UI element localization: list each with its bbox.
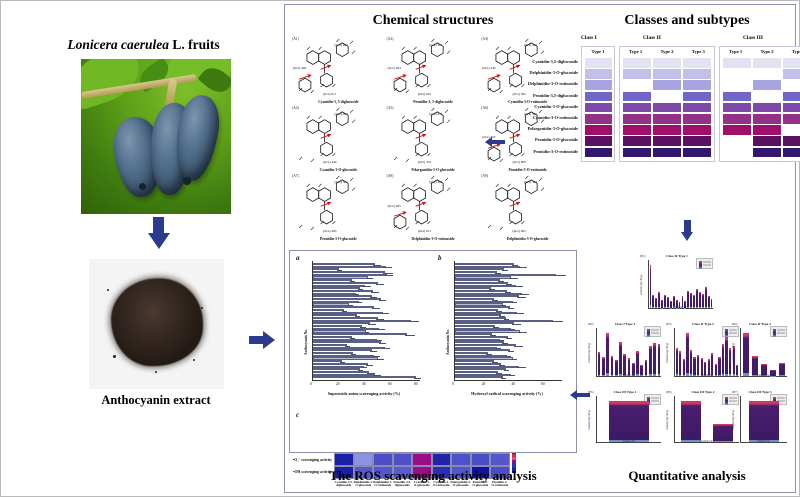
heatmap-cell bbox=[783, 92, 800, 102]
quant-chart-title: Class III Type 2 bbox=[665, 390, 741, 394]
x-axis-tick: 60 bbox=[388, 382, 392, 386]
quant-chart-6: (B6)Class III Type 2Content (mg/100 g)Sa… bbox=[665, 390, 741, 450]
heatmap-cell bbox=[653, 103, 681, 113]
heatmap-cell bbox=[723, 80, 751, 90]
type-header-2-1: Type 1 bbox=[620, 47, 651, 57]
chart-hydroxyl: 0204060 bbox=[454, 261, 562, 381]
chemical-structure-5: (A5)(m/z) 271(m/z) 433Pelargonidin-3-O-g… bbox=[386, 105, 481, 174]
quant-chart-title: Class II Type 1 bbox=[639, 254, 715, 258]
x-axis-tick: 60 bbox=[541, 382, 545, 386]
quant-plot-area: Sample No. bbox=[740, 396, 787, 443]
heatmap-cell bbox=[653, 69, 681, 79]
haskap-fruit-photo bbox=[81, 59, 231, 214]
ros-heatmap-cell bbox=[451, 453, 471, 466]
ros-analysis-panel: a b 020406080 0204060 Superoxide anion s… bbox=[289, 250, 577, 490]
type-header-3-3: Type 3 bbox=[783, 47, 800, 57]
x-axis-tick: 0 bbox=[452, 382, 454, 386]
heatmap-cell bbox=[683, 92, 711, 102]
heatmap-cell bbox=[653, 136, 681, 146]
chemical-structure-7: (A7)(m/z) 301(m/z) 463Peonidin-3-O-gluco… bbox=[291, 173, 386, 242]
class-header-1: Class I bbox=[581, 35, 597, 41]
heatmap-cell bbox=[683, 114, 711, 124]
structure-mz-frag1: (m/z) 303 bbox=[524, 180, 537, 184]
quant-plot-area: Sample No. bbox=[674, 328, 739, 377]
quant-bar bbox=[743, 333, 749, 376]
panel-letter-a: a bbox=[296, 254, 300, 262]
quant-xlabel: Sample No. bbox=[741, 374, 787, 377]
ros-heatmap-cell bbox=[373, 453, 393, 466]
class-header-3: Class III bbox=[743, 35, 763, 41]
heatmap-column bbox=[622, 58, 652, 159]
heatmap-cell bbox=[653, 125, 681, 135]
type-header-3-1: Type 1 bbox=[720, 47, 751, 57]
heatmap-cell bbox=[653, 58, 681, 68]
heatmap-row-label-7: Pelargonidin-3-O-glucoside bbox=[499, 123, 581, 134]
chemical-structure-9: (A9)(m/z) 303(m/z) 465Delphinidin-3-O-gl… bbox=[480, 173, 575, 242]
quant-bar bbox=[606, 333, 609, 376]
structure-mz-parent: (m/z) 463 bbox=[323, 229, 336, 233]
heatmap-block-class-iii: Type 1Type 2Type 3 bbox=[719, 46, 800, 162]
quant-bar bbox=[686, 333, 688, 376]
quant-bar bbox=[658, 344, 661, 376]
heatmap-cell bbox=[723, 58, 751, 68]
heatmap-row-label-1: Cyanidin-3,5-diglucoside bbox=[499, 56, 581, 67]
heatmap-cell bbox=[683, 58, 711, 68]
heatmap-cell bbox=[783, 136, 800, 146]
heatmap-cell bbox=[783, 58, 800, 68]
heatmap-cell bbox=[653, 80, 681, 90]
chart-a-xlabel: Superoxide anion scavenging activity (%) bbox=[290, 391, 438, 396]
quant-plot-area: Sample No. bbox=[674, 396, 739, 443]
chart-b-xlabel: Hydroxyl radical scavenging activity (%) bbox=[436, 391, 578, 396]
heatmap-cell bbox=[753, 69, 781, 79]
heatmap-cell bbox=[623, 136, 651, 146]
heatmap-cell bbox=[585, 148, 612, 158]
structure-mz-parent: (m/z) 625 bbox=[418, 92, 431, 96]
quant-chart-title: Class III Type 1 bbox=[587, 390, 663, 394]
quant-ylabel: Content (mg/100 g) bbox=[732, 410, 735, 430]
heatmap-cell bbox=[623, 125, 651, 135]
x-axis-tick: 80 bbox=[414, 382, 418, 386]
quant-bar bbox=[653, 343, 656, 376]
structure-mz-frag1: (m/z) 271 bbox=[429, 112, 442, 116]
heatmap-cell bbox=[753, 125, 781, 135]
quant-xlabel: Sample No. bbox=[649, 306, 713, 309]
heatmap-cell bbox=[683, 148, 711, 158]
heatmap-cell bbox=[783, 103, 800, 113]
structure-mz-parent: (m/z) 611 bbox=[418, 229, 431, 233]
arrow-classes-to-quantitative bbox=[681, 220, 693, 242]
heatmap-cell bbox=[753, 114, 781, 124]
heatmap-cell bbox=[683, 69, 711, 79]
source-material-column: Lonicera caerulea L. fruits Anthocyani bbox=[1, 1, 284, 496]
extract-label: Anthocyanin extract bbox=[31, 393, 281, 408]
structure-name: Cyanidin-3-O-glucoside bbox=[291, 168, 386, 172]
structure-name: Delphinidin-3-O-glucoside bbox=[480, 237, 575, 241]
graphical-abstract-page: Lonicera caerulea L. fruits Anthocyani bbox=[0, 0, 800, 497]
quant-bar bbox=[609, 401, 650, 442]
chemical-structure-8: (A8)(m/z) 303(m/z) 465(m/z) 611Delphinid… bbox=[386, 173, 481, 242]
quant-bar bbox=[650, 265, 652, 308]
heatmap-block-class-ii: Type 1Type 2Type 3 bbox=[619, 46, 715, 162]
heatmap-cell bbox=[753, 136, 781, 146]
heatmap-cell bbox=[753, 148, 781, 158]
quant-ylabel: Content (mg/100 g) bbox=[666, 410, 669, 430]
chart-superoxide: 020406080 bbox=[312, 261, 420, 381]
arrow-to-analysis bbox=[249, 331, 275, 349]
heatmap-row-label-2: Delphinidin-3-O-glucoside bbox=[499, 67, 581, 78]
ros-heatmap-row-label-1: •O₂⁻ scavenging activity bbox=[290, 457, 332, 462]
ros-heatmap-cell bbox=[432, 453, 452, 466]
quant-plot-area: Sample No. bbox=[648, 260, 713, 309]
species-suffix: L. fruits bbox=[169, 37, 220, 52]
heatmap-cell bbox=[783, 80, 800, 90]
heatmap-cell bbox=[585, 69, 612, 79]
ros-heatmap-cell bbox=[490, 453, 510, 466]
heatmap-cell bbox=[723, 69, 751, 79]
panel-letter-c: c bbox=[296, 411, 299, 419]
heatmap-cell bbox=[585, 114, 612, 124]
heatmap-cell bbox=[683, 103, 711, 113]
bar bbox=[313, 376, 416, 378]
structure-name: Peonidin-3-O-glucoside bbox=[291, 237, 386, 241]
heatmap-cell bbox=[653, 92, 681, 102]
structure-mz-parent: (m/z) 449 bbox=[323, 160, 336, 164]
quant-chart-7: (B7)Class III Type 3Content (mg/100 g)Sa… bbox=[731, 390, 789, 450]
quant-ylabel: Content (mg/100 g) bbox=[588, 343, 591, 363]
quant-bar bbox=[681, 401, 701, 442]
quant-bar bbox=[619, 342, 622, 376]
quant-chart-3: (B3)Class II Type 2Content (mg/100 g)Sam… bbox=[665, 322, 741, 384]
analysis-panels-box: Chemical structures (A1)(m/z) 287(m/z) 4… bbox=[284, 4, 796, 493]
heatmap-row-label-5: Cyanidin-3-O-glucoside bbox=[499, 101, 581, 112]
structure-mz-frag1: (m/z) 287 bbox=[524, 43, 537, 47]
heatmap-column bbox=[584, 58, 613, 159]
structure-name: Delphinidin-3-O-rutinoside bbox=[386, 237, 481, 241]
heatmap-cell bbox=[723, 125, 751, 135]
heatmap-cell bbox=[585, 58, 612, 68]
structure-mz-parent: (m/z) 465 bbox=[513, 229, 526, 233]
heatmap-cell bbox=[683, 125, 711, 135]
heatmap-cell bbox=[783, 69, 800, 79]
structure-mz-parent: (m/z) 433 bbox=[418, 160, 431, 164]
ros-heatmap-cell bbox=[393, 453, 413, 466]
species-name: Lonicera caerulea bbox=[67, 37, 169, 52]
heatmap-row-label-4: Peonidin-3,5-diglucoside bbox=[499, 90, 581, 101]
type-header-2-2: Type 2 bbox=[651, 47, 682, 57]
chemical-structures-title: Chemical structures bbox=[289, 13, 577, 29]
chemical-structure-2: (A2)(m/z) 301(m/z) 463(m/z) 625Peonidin-… bbox=[386, 36, 481, 105]
quant-chart-title: Class III Type 3 bbox=[731, 390, 789, 394]
structure-mz-frag1: (m/z) 303 bbox=[429, 180, 442, 184]
ros-heatmap-cell bbox=[471, 453, 491, 466]
heatmap-cell bbox=[753, 80, 781, 90]
heatmap-cell bbox=[585, 92, 612, 102]
type-header-2-3: Type 3 bbox=[683, 47, 714, 57]
fruit-title: Lonicera caerulea L. fruits bbox=[11, 37, 276, 53]
quant-bar bbox=[690, 350, 692, 376]
heatmap-cell bbox=[585, 103, 612, 113]
heatmap-row-label-9: Peonidin-3-O-rutinoside bbox=[499, 146, 581, 157]
quant-xlabel: Sample No. bbox=[741, 440, 787, 443]
quant-xlabel: Sample No. bbox=[675, 374, 739, 377]
ros-heatmap-cell bbox=[354, 453, 374, 466]
heatmap-cell bbox=[623, 58, 651, 68]
heatmap-cell bbox=[783, 148, 800, 158]
ros-heatmap-cell bbox=[334, 453, 354, 466]
heatmap-cell bbox=[623, 80, 651, 90]
quant-chart-4: (B4)Class II Type 3Content (mg/100 g)Sam… bbox=[731, 322, 789, 384]
class-headers: Class IClass IIClass III bbox=[581, 35, 793, 46]
quant-plot-area: Sample No. bbox=[596, 396, 661, 443]
quant-bar bbox=[749, 401, 778, 442]
structure-mz-frag1: (m/z) 287 bbox=[335, 112, 348, 116]
heatmap-cell bbox=[683, 136, 711, 146]
quant-chart-1: (B1)Class II Type 1Content (mg/100 g)Sam… bbox=[639, 254, 715, 316]
powder-pile bbox=[111, 278, 203, 366]
quant-bar bbox=[676, 348, 678, 376]
structure-name: Peonidin-3-O-rutinoside bbox=[480, 168, 575, 172]
quant-bar bbox=[598, 352, 601, 376]
heatmap-row-label-8: Peonidin-3-O-glucoside bbox=[499, 134, 581, 145]
x-axis-tick: 40 bbox=[511, 382, 515, 386]
ros-charts-container: a b 020406080 0204060 Superoxide anion s… bbox=[289, 250, 577, 453]
structure-name: Peonidin-3, 5-diglucoside bbox=[386, 100, 481, 104]
chemical-structure-1: (A1)(m/z) 287(m/z) 449(m/z) 611Cyanidin-… bbox=[291, 36, 386, 105]
heatmap-cell bbox=[585, 80, 612, 90]
heatmap-column bbox=[752, 58, 782, 159]
anthocyanin-powder-photo bbox=[89, 259, 224, 389]
chemical-structure-4: (A4)(m/z) 287(m/z) 449Cyanidin-3-O-gluco… bbox=[291, 105, 386, 174]
structure-mz-frag1: (m/z) 301 bbox=[429, 43, 442, 47]
quant-chart-title: Class II Type 2 bbox=[665, 322, 741, 326]
panel-letter-b: b bbox=[438, 254, 442, 262]
heatmap-cell bbox=[585, 136, 612, 146]
arrow-structures-to-classes bbox=[485, 137, 507, 147]
heatmap-cell bbox=[723, 136, 751, 146]
heatmap-cell bbox=[623, 69, 651, 79]
heatmap-column bbox=[722, 58, 752, 159]
heatmap-cell bbox=[623, 103, 651, 113]
structure-mz-parent: (m/z) 611 bbox=[323, 92, 336, 96]
ros-heatmap-cell bbox=[412, 453, 432, 466]
structure-mz-frag1: (m/z) 301 bbox=[335, 180, 348, 184]
heatmap-cell bbox=[653, 148, 681, 158]
quantitative-analysis-panel: (B1)Class II Type 1Content (mg/100 g)Sam… bbox=[581, 250, 793, 490]
heatmap-cell bbox=[753, 103, 781, 113]
quant-chart-title: Class II Type 3 bbox=[731, 322, 789, 326]
heatmap-row-labels: Cyanidin-3,5-diglucosideDelphinidin-3-O-… bbox=[499, 56, 581, 157]
heatmap-cell bbox=[623, 92, 651, 102]
heatmap-row-label-3: Delphinidin-3-O-rutinoside bbox=[499, 78, 581, 89]
quant-xlabel: Sample No. bbox=[675, 440, 739, 443]
quantitative-caption: Quantitative analysis bbox=[581, 468, 793, 484]
x-axis-tick: 20 bbox=[336, 382, 340, 386]
x-axis-tick: 0 bbox=[310, 382, 312, 386]
quant-xlabel: Sample No. bbox=[597, 440, 661, 443]
quant-ylabel: Content (mg/100 g) bbox=[666, 343, 669, 363]
heatmap-cell bbox=[683, 80, 711, 90]
heatmap-block-class-i: Type 1 bbox=[581, 46, 615, 162]
heatmap-row-label-6: Cyanidin-3-O-rutinoside bbox=[499, 112, 581, 123]
heatmap-cell bbox=[623, 114, 651, 124]
chart-b-ylabel: Anthocyanin No. bbox=[446, 329, 450, 355]
quant-ylabel: Content (mg/100 g) bbox=[732, 343, 735, 363]
x-axis-tick: 40 bbox=[362, 382, 366, 386]
heatmap-cell bbox=[723, 114, 751, 124]
heatmap-cell bbox=[753, 58, 781, 68]
heatmap-cell bbox=[753, 92, 781, 102]
quant-xlabel: Sample No. bbox=[597, 374, 661, 377]
structure-mz-frag2: (m/z) 449 bbox=[293, 66, 306, 70]
ros-caption: The ROS scavenging activity analysis bbox=[289, 468, 577, 484]
heatmap-cell bbox=[723, 103, 751, 113]
quant-bar bbox=[649, 346, 652, 376]
structure-mz-parent: (m/z) 609 bbox=[513, 160, 526, 164]
structure-name: Cyanidin-3, 5-diglucoside bbox=[291, 100, 386, 104]
heatmap-cell bbox=[723, 148, 751, 158]
class-header-2: Class II bbox=[643, 35, 661, 41]
heatmap-column bbox=[682, 58, 712, 159]
structure-name: Pelargonidin-3-O-glucoside bbox=[386, 168, 481, 172]
quant-bar bbox=[722, 344, 724, 376]
quant-bar bbox=[679, 351, 681, 376]
heatmap-cell bbox=[623, 148, 651, 158]
quant-plot-area: Sample No. bbox=[740, 328, 787, 377]
quant-bar bbox=[725, 337, 727, 376]
quantitative-charts-container: (B1)Class II Type 1Content (mg/100 g)Sam… bbox=[581, 250, 793, 453]
structure-mz-frag2: (m/z) 465 bbox=[388, 204, 401, 208]
structure-mz-frag2: (m/z) 463 bbox=[388, 66, 401, 70]
quant-ylabel: Content (mg/100 g) bbox=[640, 275, 643, 295]
heatmap-cell bbox=[653, 114, 681, 124]
heatmap-cell bbox=[783, 114, 800, 124]
quant-ylabel: Content (mg/100 g) bbox=[588, 410, 591, 430]
bar bbox=[455, 376, 503, 378]
quant-chart-2: (B2)Class I Type 1Content (mg/100 g)Samp… bbox=[587, 322, 663, 384]
quant-chart-5: (B5)Class III Type 1Content (mg/100 g)Sa… bbox=[587, 390, 663, 450]
x-axis-tick: 20 bbox=[482, 382, 486, 386]
arrow-extraction-head bbox=[148, 233, 170, 249]
classes-subtypes-title: Classes and subtypes bbox=[581, 13, 793, 29]
arrow-quantitative-to-ros bbox=[570, 390, 592, 400]
heatmap-cell bbox=[585, 125, 612, 135]
chart-a-ylabel: Anthocyanin No. bbox=[304, 329, 308, 355]
quant-bar bbox=[711, 353, 713, 377]
classes-subtypes-panel: Classes and subtypes Class IClass IIClas… bbox=[581, 8, 793, 246]
structure-mz-frag2: (m/z) 449 bbox=[482, 66, 495, 70]
type-header-3-2: Type 2 bbox=[751, 47, 782, 57]
heatmap-column bbox=[652, 58, 682, 159]
heatmap-column bbox=[782, 58, 800, 159]
type-header-1-1: Type 1 bbox=[582, 47, 614, 57]
quant-plot-area: Sample No. bbox=[596, 328, 661, 377]
heatmap-cell bbox=[783, 125, 800, 135]
heatmap-cell bbox=[723, 92, 751, 102]
quant-chart-title: Class I Type 1 bbox=[587, 322, 663, 326]
quant-bar bbox=[636, 351, 639, 376]
structure-mz-frag1: (m/z) 287 bbox=[335, 43, 348, 47]
